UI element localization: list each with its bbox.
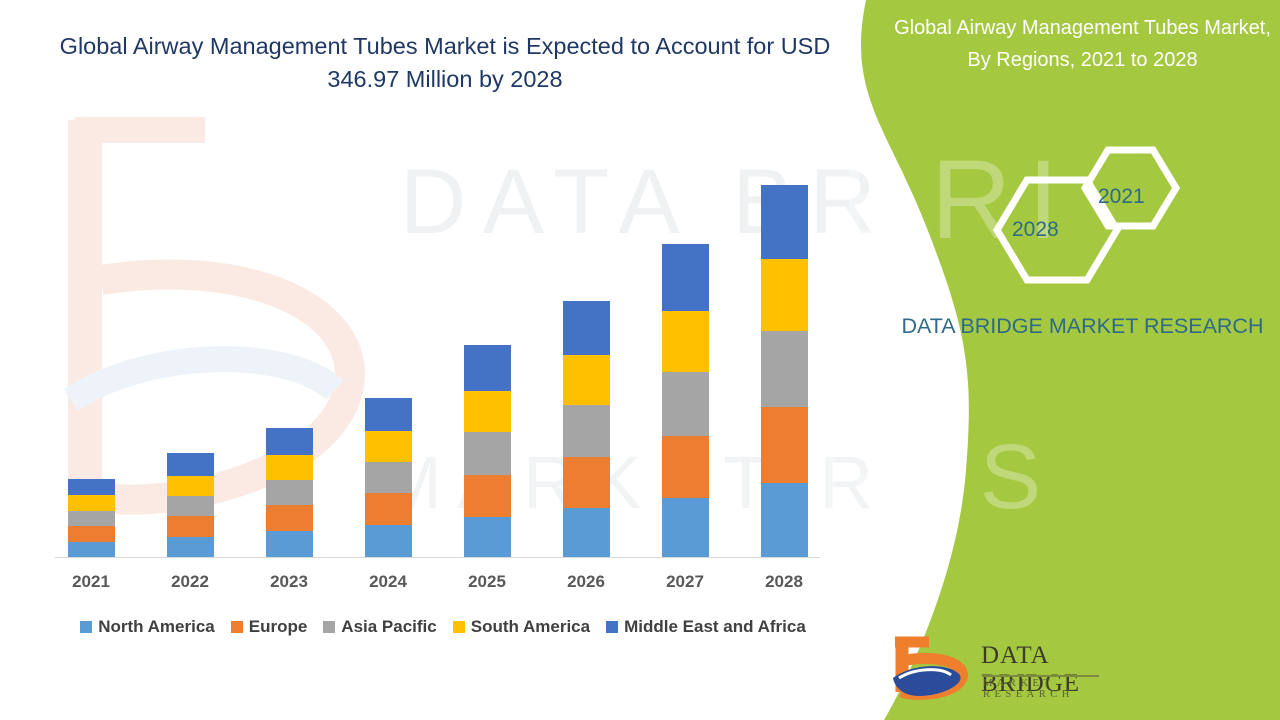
bar-segment xyxy=(761,185,808,259)
legend-item[interactable]: Middle East and Africa xyxy=(606,617,806,637)
bar-segment xyxy=(464,475,511,517)
x-axis-label-2026: 2026 xyxy=(554,572,618,592)
x-axis-label-2022: 2022 xyxy=(158,572,222,592)
bar-segment xyxy=(662,311,709,372)
bar-segment xyxy=(365,398,412,431)
bar-segment xyxy=(68,526,115,542)
legend-swatch-icon xyxy=(606,621,618,633)
brand-name-text: DATA BRIDGE MARKET RESEARCH xyxy=(890,310,1275,342)
bar-segment xyxy=(68,495,115,511)
bar-stack xyxy=(266,428,313,558)
legend-swatch-icon xyxy=(231,621,243,633)
bar-stack xyxy=(662,244,709,558)
legend-item[interactable]: Europe xyxy=(231,617,308,637)
bar-segment xyxy=(464,517,511,558)
logo-mark-icon xyxy=(885,634,980,704)
bar-segment xyxy=(662,244,709,311)
bar-column-2024 xyxy=(356,120,420,558)
bar-segment xyxy=(266,455,313,480)
bar-segment xyxy=(464,432,511,475)
bar-segment xyxy=(167,537,214,558)
bar-segment xyxy=(761,331,808,407)
bar-segment xyxy=(662,498,709,558)
legend-label: South America xyxy=(471,617,590,637)
green-watermark-2: RES xyxy=(820,425,1057,530)
bar-stack xyxy=(68,479,115,558)
chart-title: Global Airway Management Tubes Market is… xyxy=(40,30,850,96)
legend-item[interactable]: Asia Pacific xyxy=(323,617,436,637)
legend-item[interactable]: South America xyxy=(453,617,590,637)
bar-segment xyxy=(365,525,412,558)
bar-segment xyxy=(563,457,610,508)
bar-column-2026 xyxy=(554,120,618,558)
bar-column-2023 xyxy=(257,120,321,558)
hexagon-label-end: 2028 xyxy=(1012,218,1059,242)
x-axis-label-2023: 2023 xyxy=(257,572,321,592)
bar-segment xyxy=(563,508,610,558)
bar-segment xyxy=(266,531,313,558)
bar-segment xyxy=(266,428,313,455)
bar-stack xyxy=(761,185,808,558)
bar-segment xyxy=(563,355,610,405)
bar-segment xyxy=(68,542,115,558)
x-axis-label-2021: 2021 xyxy=(59,572,123,592)
bar-column-2028 xyxy=(752,120,816,558)
bar-segment xyxy=(167,496,214,516)
bar-segment xyxy=(68,479,115,495)
chart-legend: North AmericaEuropeAsia PacificSouth Ame… xyxy=(48,617,838,637)
bar-segment xyxy=(365,493,412,525)
bar-column-2025 xyxy=(455,120,519,558)
bar-segment xyxy=(563,301,610,355)
legend-label: Europe xyxy=(249,617,308,637)
infographic-page: DATA BRIDGE MARKET RESEARCH Global Airwa… xyxy=(0,0,1280,720)
bar-group xyxy=(55,120,820,558)
x-axis-label-2028: 2028 xyxy=(752,572,816,592)
bar-segment xyxy=(167,453,214,476)
bar-segment xyxy=(167,476,214,496)
bar-stack xyxy=(167,453,214,558)
bar-segment xyxy=(365,431,412,462)
bar-segment xyxy=(68,511,115,526)
bar-column-2027 xyxy=(653,120,717,558)
bar-segment xyxy=(464,391,511,432)
bar-stack xyxy=(464,345,511,558)
legend-swatch-icon xyxy=(323,621,335,633)
hexagon-shapes xyxy=(980,140,1180,290)
x-axis-label-2025: 2025 xyxy=(455,572,519,592)
plot-area xyxy=(55,120,820,558)
legend-label: Asia Pacific xyxy=(341,617,436,637)
company-logo: DATA BRIDGE MARKET RESEARCH xyxy=(885,634,1135,706)
chart-panel: DATA BRIDGE MARKET RESEARCH Global Airwa… xyxy=(0,0,880,720)
x-axis-labels: 20212022202320242025202620272028 xyxy=(55,572,820,592)
legend-label: North America xyxy=(98,617,215,637)
logo-subtitle-text: MARKET RESEARCH xyxy=(983,678,1135,700)
bar-stack xyxy=(365,398,412,558)
legend-swatch-icon xyxy=(80,621,92,633)
bar-segment xyxy=(761,407,808,483)
bar-segment xyxy=(266,480,313,505)
bar-segment xyxy=(662,436,709,498)
legend-swatch-icon xyxy=(453,621,465,633)
bar-segment xyxy=(662,372,709,436)
bar-column-2022 xyxy=(158,120,222,558)
x-axis-line xyxy=(55,557,820,558)
bar-segment xyxy=(167,516,214,537)
bar-segment xyxy=(761,483,808,558)
bar-segment xyxy=(761,259,808,331)
legend-label: Middle East and Africa xyxy=(624,617,806,637)
x-axis-label-2024: 2024 xyxy=(356,572,420,592)
bar-segment xyxy=(563,405,610,457)
bar-segment xyxy=(365,462,412,493)
bar-segment xyxy=(464,345,511,391)
green-panel-content: BRI RES Global Airway Management Tubes M… xyxy=(880,0,1280,720)
hexagon-label-start: 2021 xyxy=(1098,185,1145,209)
logo-divider xyxy=(982,675,1099,677)
x-axis-label-2027: 2027 xyxy=(653,572,717,592)
right-panel-title: Global Airway Management Tubes Market, B… xyxy=(890,12,1275,76)
bar-stack xyxy=(563,301,610,558)
bar-column-2021 xyxy=(59,120,123,558)
legend-item[interactable]: North America xyxy=(80,617,215,637)
hexagon-group: 2021 2028 xyxy=(980,140,1180,290)
bar-segment xyxy=(266,505,313,531)
